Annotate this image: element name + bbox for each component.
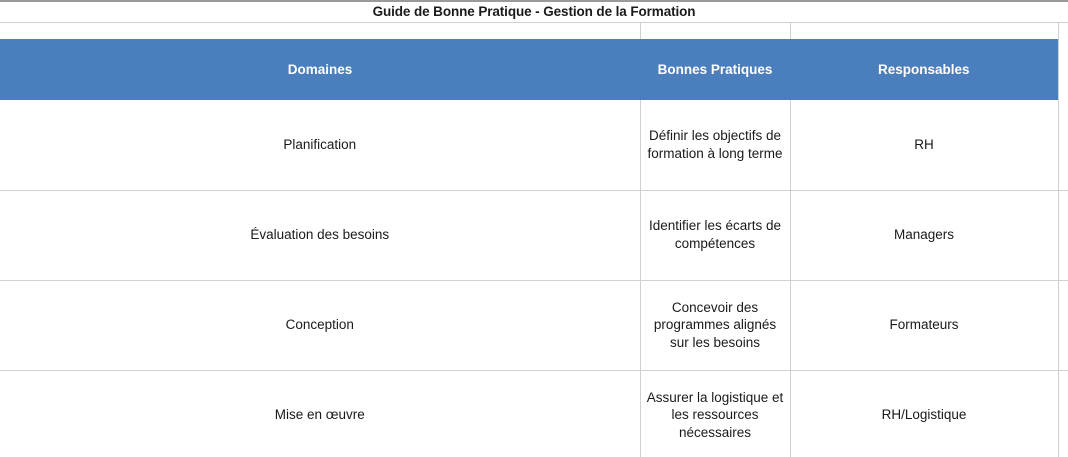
spacer-cell-responsables [790,22,1058,39]
table-row: Conception Concevoir des programmes alig… [0,280,1068,370]
spacer-cell-tail [1058,22,1068,39]
cell-bonne-pratique[interactable]: Assurer la logistique et les ressources … [640,370,790,457]
cell-responsable[interactable]: Managers [790,190,1058,280]
column-header-bonnes-pratiques[interactable]: Bonnes Pratiques [640,39,790,100]
table-row: Mise en œuvre Assurer la logistique et l… [0,370,1068,457]
document-title: Guide de Bonne Pratique - Gestion de la … [0,2,1068,22]
column-header-responsables[interactable]: Responsables [790,39,1058,100]
column-header-tail [1058,39,1068,100]
table-row: Évaluation des besoins Identifier les éc… [0,190,1068,280]
spacer-cell-pratiques [640,22,790,39]
cell-responsable[interactable]: RH [790,100,1058,190]
cell-tail [1058,100,1068,190]
table-title-row: Guide de Bonne Pratique - Gestion de la … [0,2,1068,22]
column-header-domaines[interactable]: Domaines [0,39,640,100]
cell-responsable[interactable]: RH/Logistique [790,370,1058,457]
cell-bonne-pratique[interactable]: Concevoir des programmes alignés sur les… [640,280,790,370]
cell-tail [1058,280,1068,370]
cell-domaine[interactable]: Évaluation des besoins [0,190,640,280]
best-practices-table: Guide de Bonne Pratique - Gestion de la … [0,2,1068,457]
cell-tail [1058,190,1068,280]
spreadsheet-sheet: Guide de Bonne Pratique - Gestion de la … [0,0,1068,457]
cell-responsable[interactable]: Formateurs [790,280,1058,370]
table-row: Planification Définir les objectifs de f… [0,100,1068,190]
cell-bonne-pratique[interactable]: Définir les objectifs de formation à lon… [640,100,790,190]
spacer-cell-domaines [0,22,640,39]
cell-domaine[interactable]: Conception [0,280,640,370]
cell-domaine[interactable]: Mise en œuvre [0,370,640,457]
cell-domaine[interactable]: Planification [0,100,640,190]
cell-tail [1058,370,1068,457]
spacer-row [0,22,1068,39]
cell-bonne-pratique[interactable]: Identifier les écarts de compétences [640,190,790,280]
table-header-row: Domaines Bonnes Pratiques Responsables [0,39,1068,100]
